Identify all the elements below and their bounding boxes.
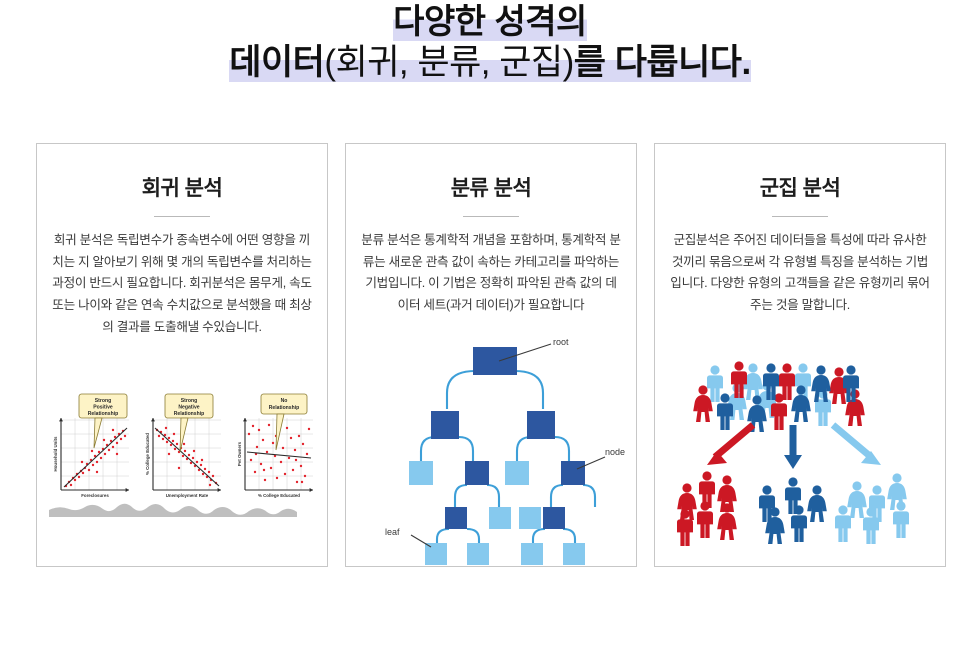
svg-text:Strong: Strong <box>181 398 197 404</box>
cluster-light-blue <box>835 474 909 545</box>
plot1-xlabel: Foreclosures <box>81 493 109 498</box>
card-classification-title: 분류 분석 <box>451 172 532 202</box>
title-line-1-text: 다양한 성격의 <box>393 3 587 41</box>
arrow-light-blue <box>833 425 881 465</box>
classification-figure: root node leaf <box>346 317 636 566</box>
slide-title: 다양한 성격의 데이터(회귀, 분류, 군집)를 다룹니다. <box>0 2 980 83</box>
svg-text:Negative: Negative <box>178 405 199 411</box>
card-clustering-title: 군집 분석 <box>760 172 841 202</box>
tree-leaf <box>563 543 585 565</box>
card-clustering-body: 군집분석은 주어진 데이터들을 특성에 따라 유사한 것끼리 묶음으로써 각 유… <box>655 230 945 317</box>
cluster-arrows <box>707 425 881 469</box>
cluster-dark-blue <box>759 478 827 545</box>
tree-node <box>445 507 467 529</box>
scatter-plot-none: No Relationship % College Educated Pet O… <box>237 394 313 498</box>
svg-text:No: No <box>281 398 288 404</box>
card-classification[interactable]: 분류 분석 분류 분석은 통계학적 개념을 포함하며, 통계학적 분류는 새로운… <box>345 143 637 567</box>
plot1-ylabel: Household Units <box>53 436 58 471</box>
tree-node <box>465 461 489 485</box>
svg-text:Relationship: Relationship <box>269 405 300 411</box>
card-regression-title: 회귀 분석 <box>142 172 223 202</box>
card-regression-body: 회귀 분석은 독립변수가 종속변수에 어떤 영향을 끼치는 지 알아보기 위해 … <box>37 230 327 338</box>
tree-node <box>527 411 555 439</box>
title-line-2-part-b: (회귀, 분류, 군집) <box>324 43 573 82</box>
tree-leaf <box>489 507 511 529</box>
tree-leaf <box>505 461 529 485</box>
tree-leaf <box>409 461 433 485</box>
tree-label-root: root <box>553 337 569 347</box>
tree-leaf <box>519 507 541 529</box>
tree-node <box>543 507 565 529</box>
card-clustering-divider <box>772 216 828 217</box>
card-classification-body: 분류 분석은 통계학적 개념을 포함하며, 통계학적 분류는 새로운 관측 값이… <box>346 230 636 317</box>
card-regression[interactable]: 회귀 분석 회귀 분석은 독립변수가 종속변수에 어떤 영향을 끼치는 지 알아… <box>36 143 328 567</box>
slide-root: 다양한 성격의 데이터(회귀, 분류, 군집)를 다룹니다. 회귀 분석 회귀 … <box>0 0 980 661</box>
tree-label-node: node <box>605 447 625 457</box>
svg-text:Relationship: Relationship <box>174 411 205 417</box>
title-line-1: 다양한 성격의 <box>0 2 980 42</box>
scatter-plot-positive: Strong Positive Relationship Foreclosure… <box>53 394 129 498</box>
title-line-2: 데이터(회귀, 분류, 군집)를 다룹니다. <box>0 42 980 83</box>
svg-text:Relationship: Relationship <box>88 411 119 417</box>
mixed-crowd <box>693 362 865 433</box>
svg-text:Positive: Positive <box>93 405 113 411</box>
plot3-callout: No Relationship <box>261 394 307 450</box>
title-line-2-part-a: 데이터 <box>229 43 324 82</box>
card-clustering[interactable]: 군집 분석 군집분석은 주어진 데이터들을 특성에 따라 유사한 것끼리 묶음으… <box>654 143 946 567</box>
decision-tree-figure: root node leaf <box>355 339 627 544</box>
arrow-dark-blue <box>784 425 802 469</box>
tree-leaf <box>521 543 543 565</box>
tree-node <box>561 461 585 485</box>
card-classification-divider <box>463 216 519 217</box>
ground-texture <box>49 504 297 517</box>
title-line-2-part-c: 를 다룹니다. <box>574 43 751 82</box>
regression-figure: Strong Positive Relationship Foreclosure… <box>37 338 327 566</box>
tree-label-leaf: leaf <box>385 527 400 537</box>
tree-leaf <box>425 543 447 565</box>
plot1-axes <box>59 418 129 492</box>
tree-node <box>431 411 459 439</box>
tree-leaf <box>467 543 489 565</box>
plot2-trendline <box>155 428 219 486</box>
card-regression-divider <box>154 216 210 217</box>
plot2-xlabel: Unemployment Rate <box>166 493 209 498</box>
arrow-red <box>707 425 753 465</box>
clustering-figure <box>655 317 945 566</box>
cluster-red <box>677 472 737 547</box>
plot3-ylabel: Pet Owners <box>237 442 242 467</box>
card-row: 회귀 분석 회귀 분석은 독립변수가 종속변수에 어떤 영향을 끼치는 지 알아… <box>36 143 946 567</box>
plot2-ylabel: % College Educated <box>145 433 150 475</box>
scatter-plot-negative: Strong Negative Relationship Unemploymen… <box>145 394 221 498</box>
plot3-xlabel: % College Educated <box>258 493 300 498</box>
cluster-people-figure <box>675 343 925 539</box>
svg-text:Strong: Strong <box>95 398 111 404</box>
scatter-plots-figure: Strong Positive Relationship Foreclosure… <box>43 386 321 518</box>
tree-node-root <box>473 347 517 375</box>
